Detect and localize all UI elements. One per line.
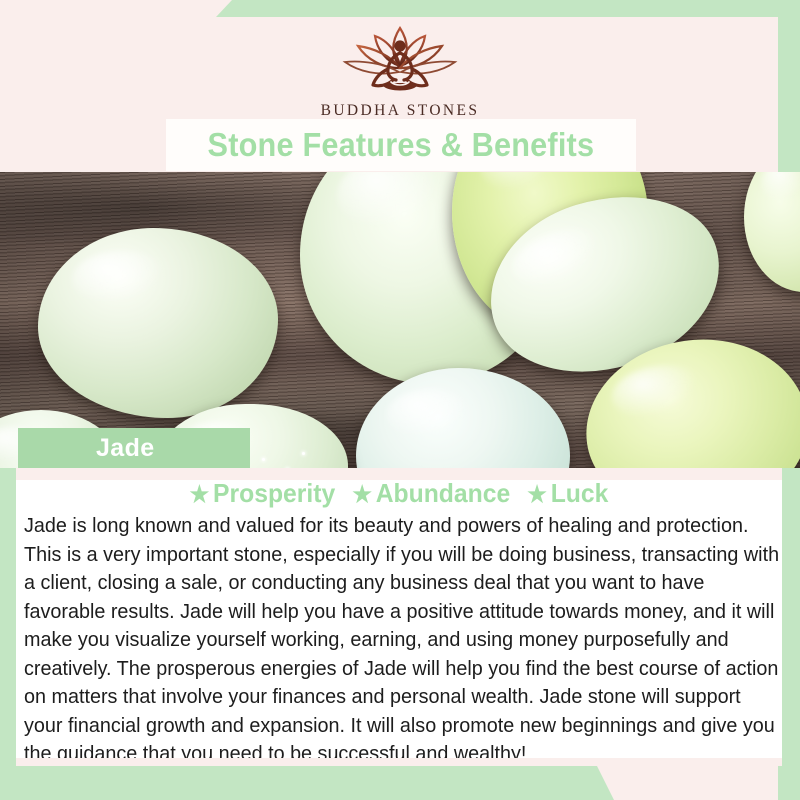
content-panel: ★Prosperity★Abundance★Luck Jade is long … [16,468,782,764]
benefit-label: Luck [551,478,609,508]
benefit-abundance: ★Abundance [352,478,510,509]
stone-name-label: Jade [96,434,155,463]
lotus-meditation-icon [325,22,475,100]
decor-top-green-band [0,0,800,17]
sparkle-highlight [262,458,265,461]
stone-name-badge: Jade [18,428,250,468]
star-icon: ★ [352,481,372,507]
benefit-prosperity: ★Prosperity [190,478,336,509]
jade-stones-photo [0,172,800,468]
benefit-label: Prosperity [213,478,335,508]
sparkle-highlight [302,452,305,455]
title-banner: Stone Features & Benefits [166,119,636,171]
infographic-page: BUDDHA STONES Stone Features & Benefits … [0,0,800,800]
description-text: Jade is long known and valued for its be… [24,512,781,769]
stone-1 [38,228,278,418]
brand-logo: BUDDHA STONES [0,22,800,120]
star-icon: ★ [190,481,210,507]
star-icon: ★ [527,481,547,507]
page-title: Stone Features & Benefits [208,126,595,164]
benefits-row: ★Prosperity★Abundance★Luck [35,478,763,509]
decor-bottom-green-band [0,764,800,800]
content-bottom-strip [16,758,782,766]
brand-name: BUDDHA STONES [0,102,800,120]
benefit-label: Abundance [376,478,510,508]
benefit-luck: ★Luck [527,478,608,509]
